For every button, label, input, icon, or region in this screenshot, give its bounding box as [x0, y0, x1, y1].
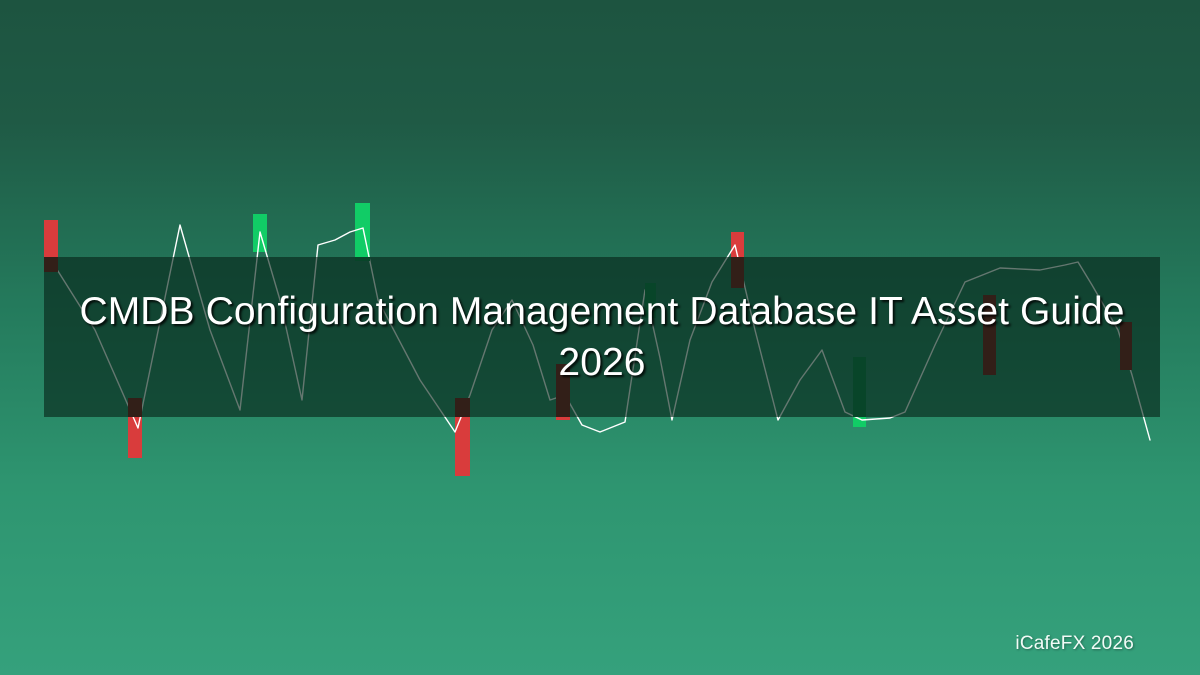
watermark-label: iCafeFX 2026	[1015, 633, 1134, 655]
screenshot-canvas: CMDB Configuration Management Database I…	[0, 0, 1200, 675]
page-title: CMDB Configuration Management Database I…	[56, 286, 1148, 388]
title-overlay-panel: CMDB Configuration Management Database I…	[44, 257, 1160, 417]
